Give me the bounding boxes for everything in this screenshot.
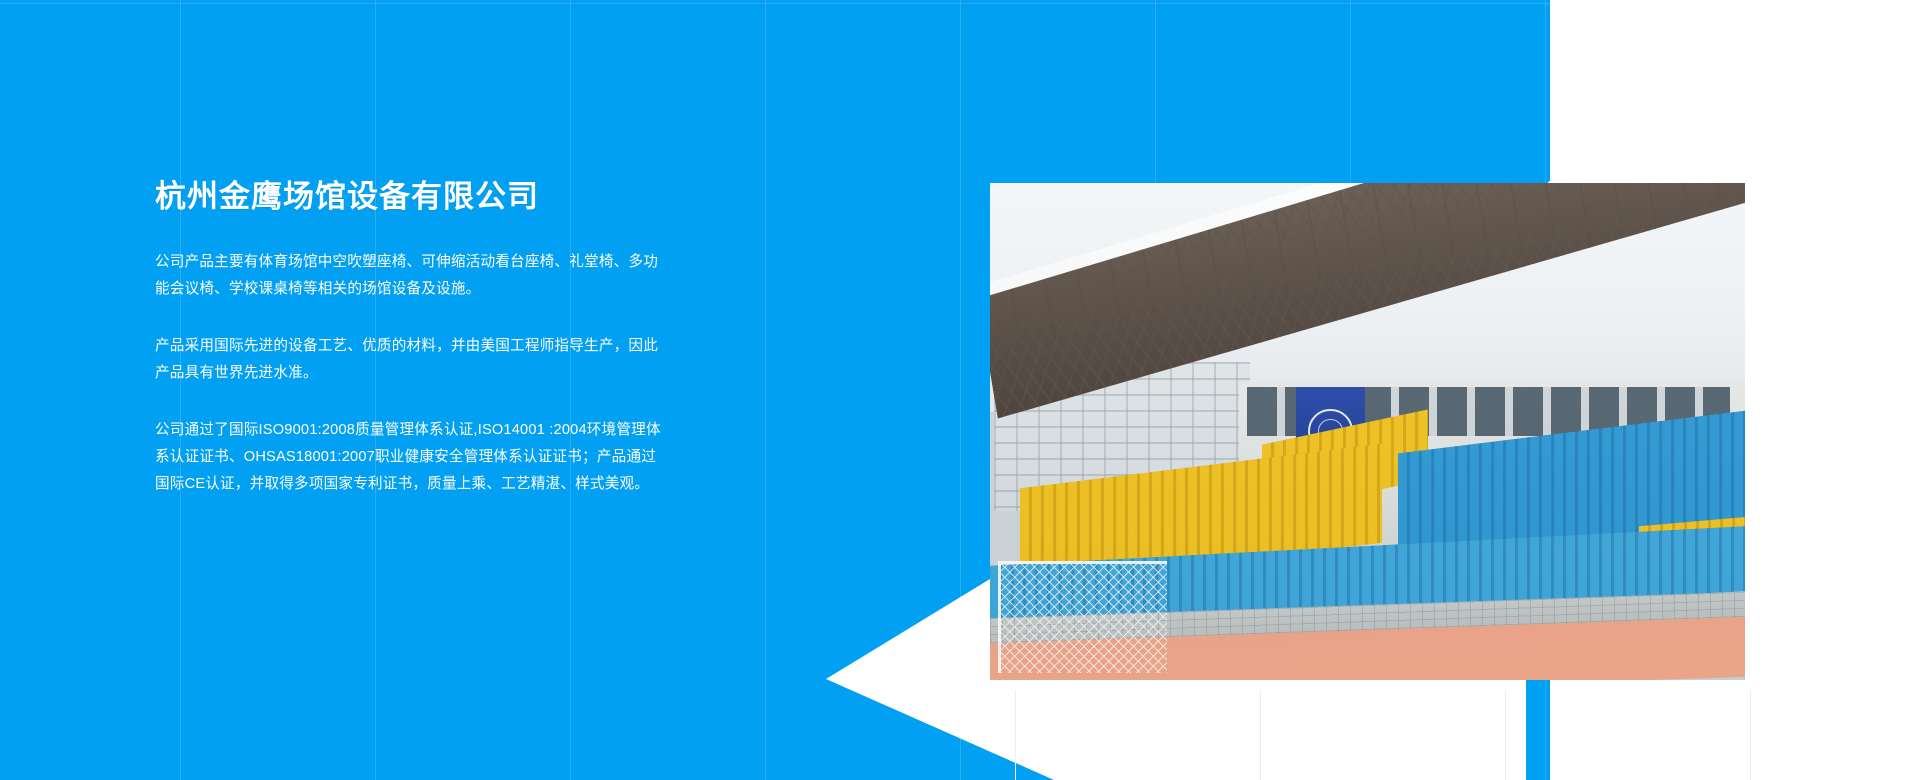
company-intro-text-block: 杭州金鹰场馆设备有限公司 公司产品主要有体育场馆中空吹塑座椅、可伸缩活动看台座椅… xyxy=(155,178,665,498)
intro-paragraph-technology: 产品采用国际先进的设备工艺、优质的材料，并由美国工程师指导生产，因此产品具有世界… xyxy=(155,333,665,387)
intro-paragraph-products: 公司产品主要有体育场馆中空吹塑座椅、可伸缩活动看台座椅、礼堂椅、多功能会议椅、学… xyxy=(155,249,665,303)
photo-vignette xyxy=(990,183,1745,680)
intro-paragraph-certifications: 公司通过了国际ISO9001:2008质量管理体系认证,ISO14001 :20… xyxy=(155,417,665,498)
hero-banner-section: 杭州金鹰场馆设备有限公司 公司产品主要有体育场馆中空吹塑座椅、可伸缩活动看台座椅… xyxy=(0,0,1920,780)
photo-content xyxy=(990,183,1745,680)
stadium-seating-photo xyxy=(990,183,1745,680)
company-name-heading: 杭州金鹰场馆设备有限公司 xyxy=(155,178,665,217)
